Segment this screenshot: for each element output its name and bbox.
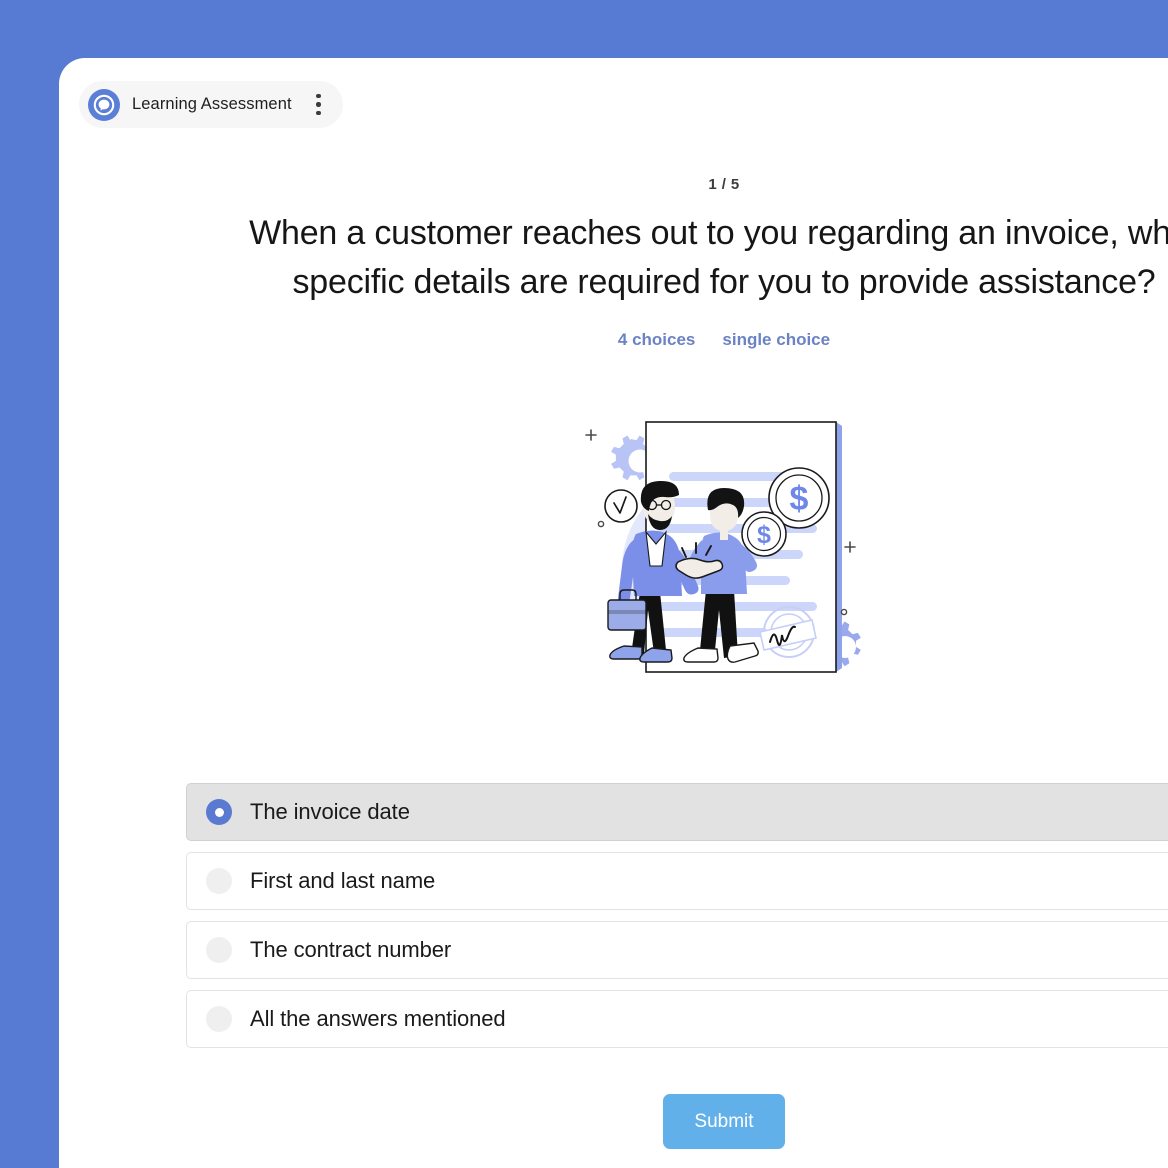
answer-option-2[interactable]: First and last name [186, 852, 1168, 910]
answer-option-label: The invoice date [250, 799, 410, 825]
kebab-dot [316, 111, 321, 116]
svg-text:$: $ [790, 480, 809, 518]
kebab-dot [316, 94, 321, 99]
radio-button[interactable] [206, 1006, 232, 1032]
checkmark-badge [605, 490, 637, 522]
quiz-card: Learning Assessment 1 / 5 When a custome… [59, 58, 1168, 1168]
submit-button[interactable]: Submit [663, 1094, 785, 1149]
radio-button[interactable] [206, 868, 232, 894]
question-counter: 1 / 5 [59, 176, 1168, 193]
answer-options-list: The invoice date First and last name The… [186, 783, 1168, 1059]
svg-text:$: $ [757, 521, 771, 549]
app-title: Learning Assessment [132, 95, 292, 114]
page-background: Learning Assessment 1 / 5 When a custome… [0, 0, 1168, 1168]
answer-option-4[interactable]: All the answers mentioned [186, 990, 1168, 1048]
radio-button[interactable] [206, 937, 232, 963]
radio-button-selected[interactable] [206, 799, 232, 825]
app-header-pill: Learning Assessment [79, 81, 343, 128]
business-handshake-agreement-illustration: $ $ [574, 410, 874, 710]
question-text: When a customer reaches out to you regar… [59, 209, 1168, 308]
kebab-menu-icon[interactable] [308, 90, 330, 120]
submit-area: Submit [59, 1094, 1168, 1149]
question-meta: 4 choices single choice [59, 330, 1168, 350]
answer-option-label: All the answers mentioned [250, 1006, 506, 1032]
question-illustration: $ $ [59, 410, 1168, 710]
question-area: 1 / 5 When a customer reaches out to you… [59, 176, 1168, 350]
chat-bubble-target-logo-icon [88, 89, 120, 121]
answer-option-label: The contract number [250, 937, 451, 963]
dollar-coin-small: $ [742, 512, 786, 556]
choices-count-label: 4 choices [618, 330, 696, 350]
answer-option-3[interactable]: The contract number [186, 921, 1168, 979]
answer-option-label: First and last name [250, 868, 435, 894]
kebab-dot [316, 102, 321, 107]
choice-mode-label: single choice [722, 330, 830, 350]
answer-option-1[interactable]: The invoice date [186, 783, 1168, 841]
